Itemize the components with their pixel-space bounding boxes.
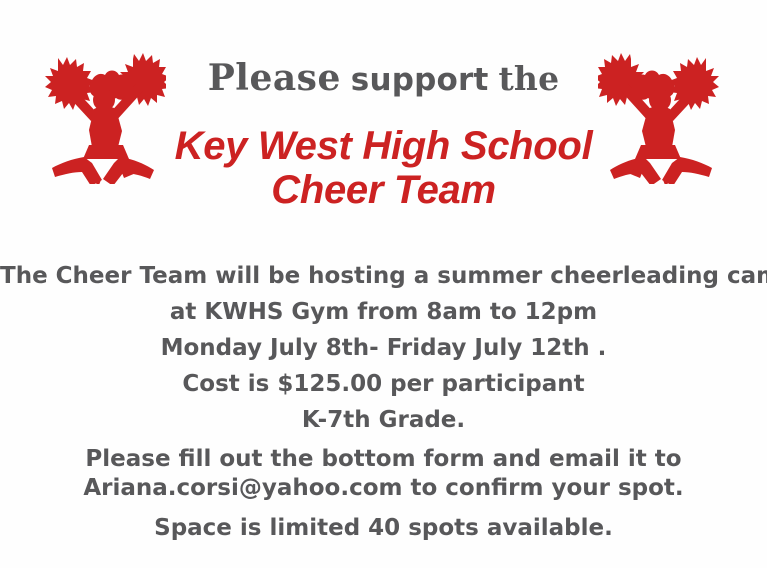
support-word-support: support [351, 62, 489, 98]
body-line: Monday July 8th- Friday July 12th . [0, 330, 767, 366]
body-line: Please fill out the bottom form and emai… [0, 445, 767, 474]
body-line: Space is limited 40 spots available. [0, 510, 767, 546]
title-line-1: Key West High School [175, 124, 593, 168]
title-line-2: Cheer Team [150, 168, 617, 212]
contact-email-line: Ariana.corsi@yahoo.com to confirm your s… [0, 474, 767, 503]
page-title: Key West High School Cheer Team [150, 124, 617, 212]
body-line: Cost is $125.00 per participant [0, 366, 767, 402]
body-line: The Cheer Team will be hosting a summer … [0, 258, 767, 294]
support-word-please: Please [208, 57, 341, 99]
support-line: Please support the [150, 56, 617, 102]
support-word-the: the [498, 59, 559, 98]
flyer-header: Please support the Key West High School … [0, 0, 767, 232]
cheerleader-silhouette-left-icon [34, 46, 166, 184]
header-text-block: Please support the Key West High School … [150, 56, 617, 212]
cheerleader-silhouette-right-icon [598, 46, 730, 184]
flyer-body-copy: The Cheer Team will be hosting a summer … [0, 258, 767, 546]
body-line: K-7th Grade. [0, 402, 767, 438]
cheer-camp-flyer: Please support the Key West High School … [0, 0, 767, 568]
body-line: at KWHS Gym from 8am to 12pm [0, 294, 767, 330]
